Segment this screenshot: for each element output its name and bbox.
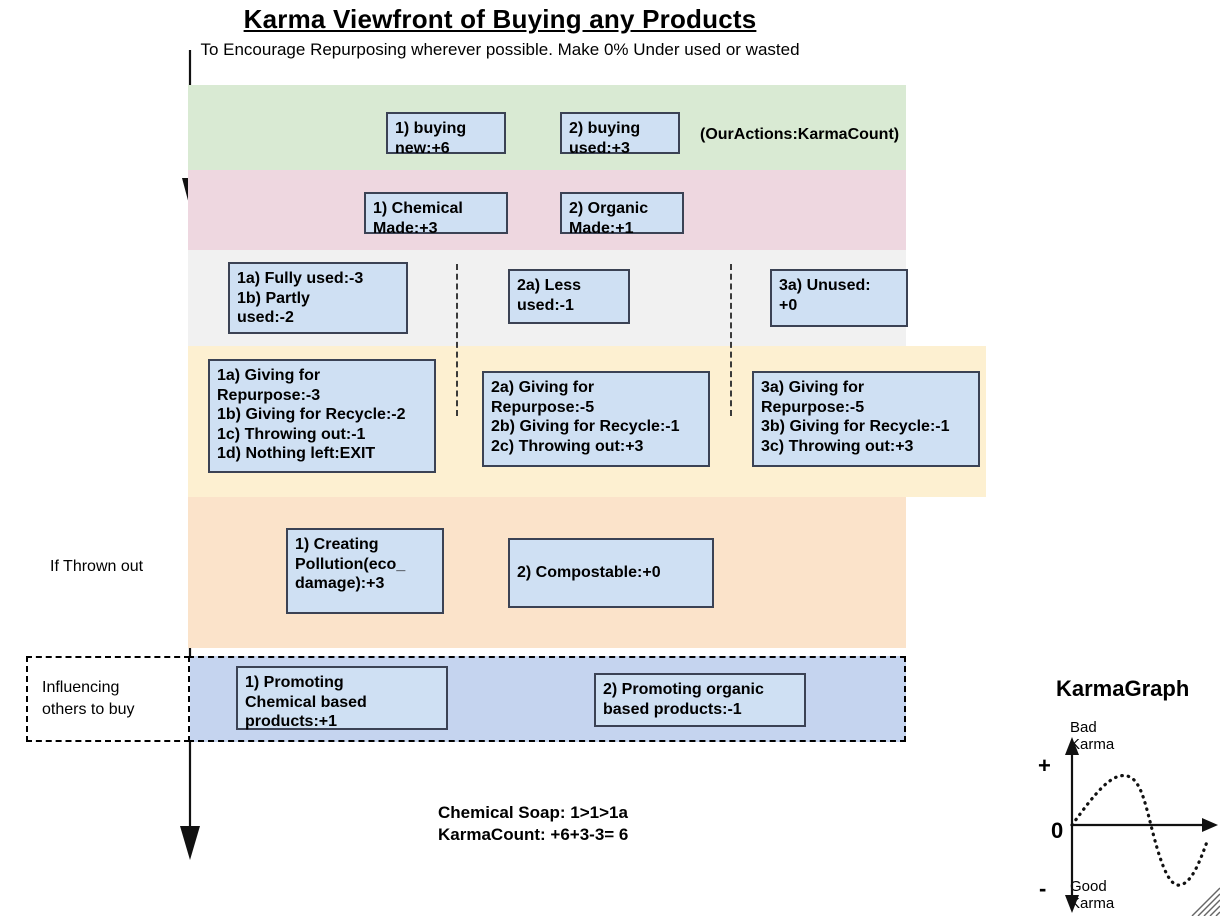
box-buying-new[interactable]: 1) buying new:+6 bbox=[386, 112, 506, 154]
box-disposal-1[interactable]: 1a) Giving for Repurpose:-3 1b) Giving f… bbox=[208, 359, 436, 473]
legend-our-actions: (OurActions:KarmaCount) bbox=[700, 126, 940, 144]
box-creating-pollution[interactable]: 1) Creating Pollution(eco_ damage):+3 bbox=[286, 528, 444, 614]
page-title: Karma Viewfront of Buying any Products bbox=[0, 4, 1000, 35]
band-made bbox=[188, 170, 906, 250]
corner-hatch-mark bbox=[1186, 882, 1220, 916]
label-if-thrown-out: If Thrown out bbox=[50, 558, 220, 576]
box-less-used[interactable]: 2a) Less used:-1 bbox=[508, 269, 630, 324]
box-promote-chemical[interactable]: 1) Promoting Chemical based products:+1 bbox=[236, 666, 448, 730]
box-buying-used[interactable]: 2) buying used:+3 bbox=[560, 112, 680, 154]
summary-line-2: KarmaCount: +6+3-3= 6 bbox=[438, 823, 628, 848]
karma-graph-plus-sign: + bbox=[1038, 753, 1051, 779]
box-disposal-2[interactable]: 2a) Giving for Repurpose:-5 2b) Giving f… bbox=[482, 371, 710, 467]
box-compostable[interactable]: 2) Compostable:+0 bbox=[508, 538, 714, 608]
box-unused[interactable]: 3a) Unused: +0 bbox=[770, 269, 908, 327]
diagram-canvas: Karma Viewfront of Buying any Products T… bbox=[0, 0, 1222, 918]
page-subtitle: To Encourage Repurposing wherever possib… bbox=[0, 40, 1000, 60]
box-organic-made[interactable]: 2) Organic Made:+1 bbox=[560, 192, 684, 234]
box-promote-organic[interactable]: 2) Promoting organic based products:-1 bbox=[594, 673, 806, 727]
summary-line-1: Chemical Soap: 1>1>1a bbox=[438, 801, 628, 826]
karma-graph-title: KarmaGraph bbox=[1056, 676, 1189, 702]
box-disposal-3[interactable]: 3a) Giving for Repurpose:-5 3b) Giving f… bbox=[752, 371, 980, 467]
label-influencing-others: Influencing others to buy bbox=[26, 656, 190, 742]
column-separator-2 bbox=[730, 264, 732, 416]
box-chemical-made[interactable]: 1) Chemical Made:+3 bbox=[364, 192, 508, 234]
column-separator-1 bbox=[456, 264, 458, 416]
box-fully-partly-used[interactable]: 1a) Fully used:-3 1b) Partly used:-2 bbox=[228, 262, 408, 334]
karma-graph-minus-sign: - bbox=[1039, 876, 1046, 902]
